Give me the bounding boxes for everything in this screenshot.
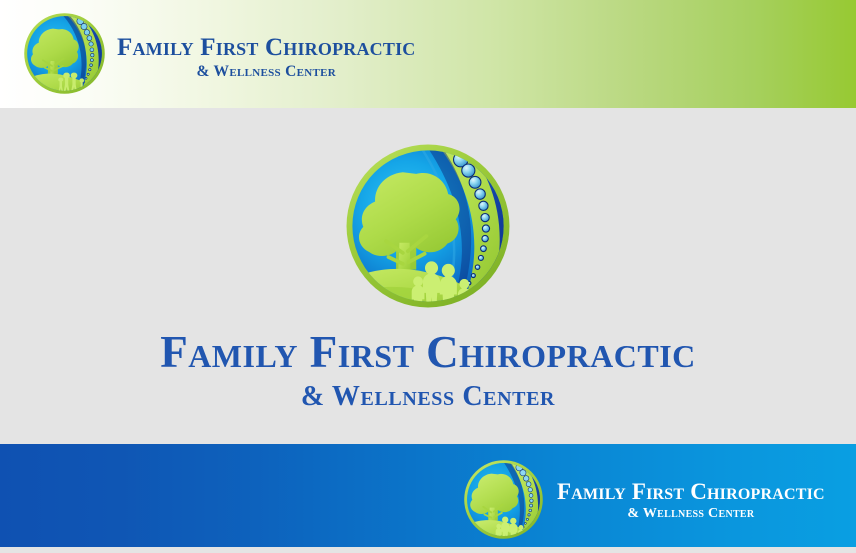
bottom-edge-strip [0,547,856,553]
main-section: Family First Chiropractic & Wellness Cen… [0,108,856,444]
header-subtitle: & Wellness Center [117,62,415,81]
footer-brand-text: Family First Chiropractic & Wellness Cen… [557,478,825,523]
header-title: Family First Chiropractic [117,33,415,62]
logo-presentation-page: Family First Chiropractic & Wellness Cen… [0,0,856,553]
footer-band: Family First Chiropractic & Wellness Cen… [0,444,856,547]
main-logo-mark [344,142,512,310]
main-subtitle: & Wellness Center [0,380,856,414]
footer-subtitle: & Wellness Center [557,505,825,523]
footer-title: Family First Chiropractic [557,478,825,505]
header-band: Family First Chiropractic & Wellness Cen… [0,0,856,108]
footer-logo-mark [463,459,544,540]
header-logo-mark [23,12,106,95]
main-title: Family First Chiropractic [0,326,856,378]
header-brand-text: Family First Chiropractic & Wellness Cen… [117,33,415,81]
